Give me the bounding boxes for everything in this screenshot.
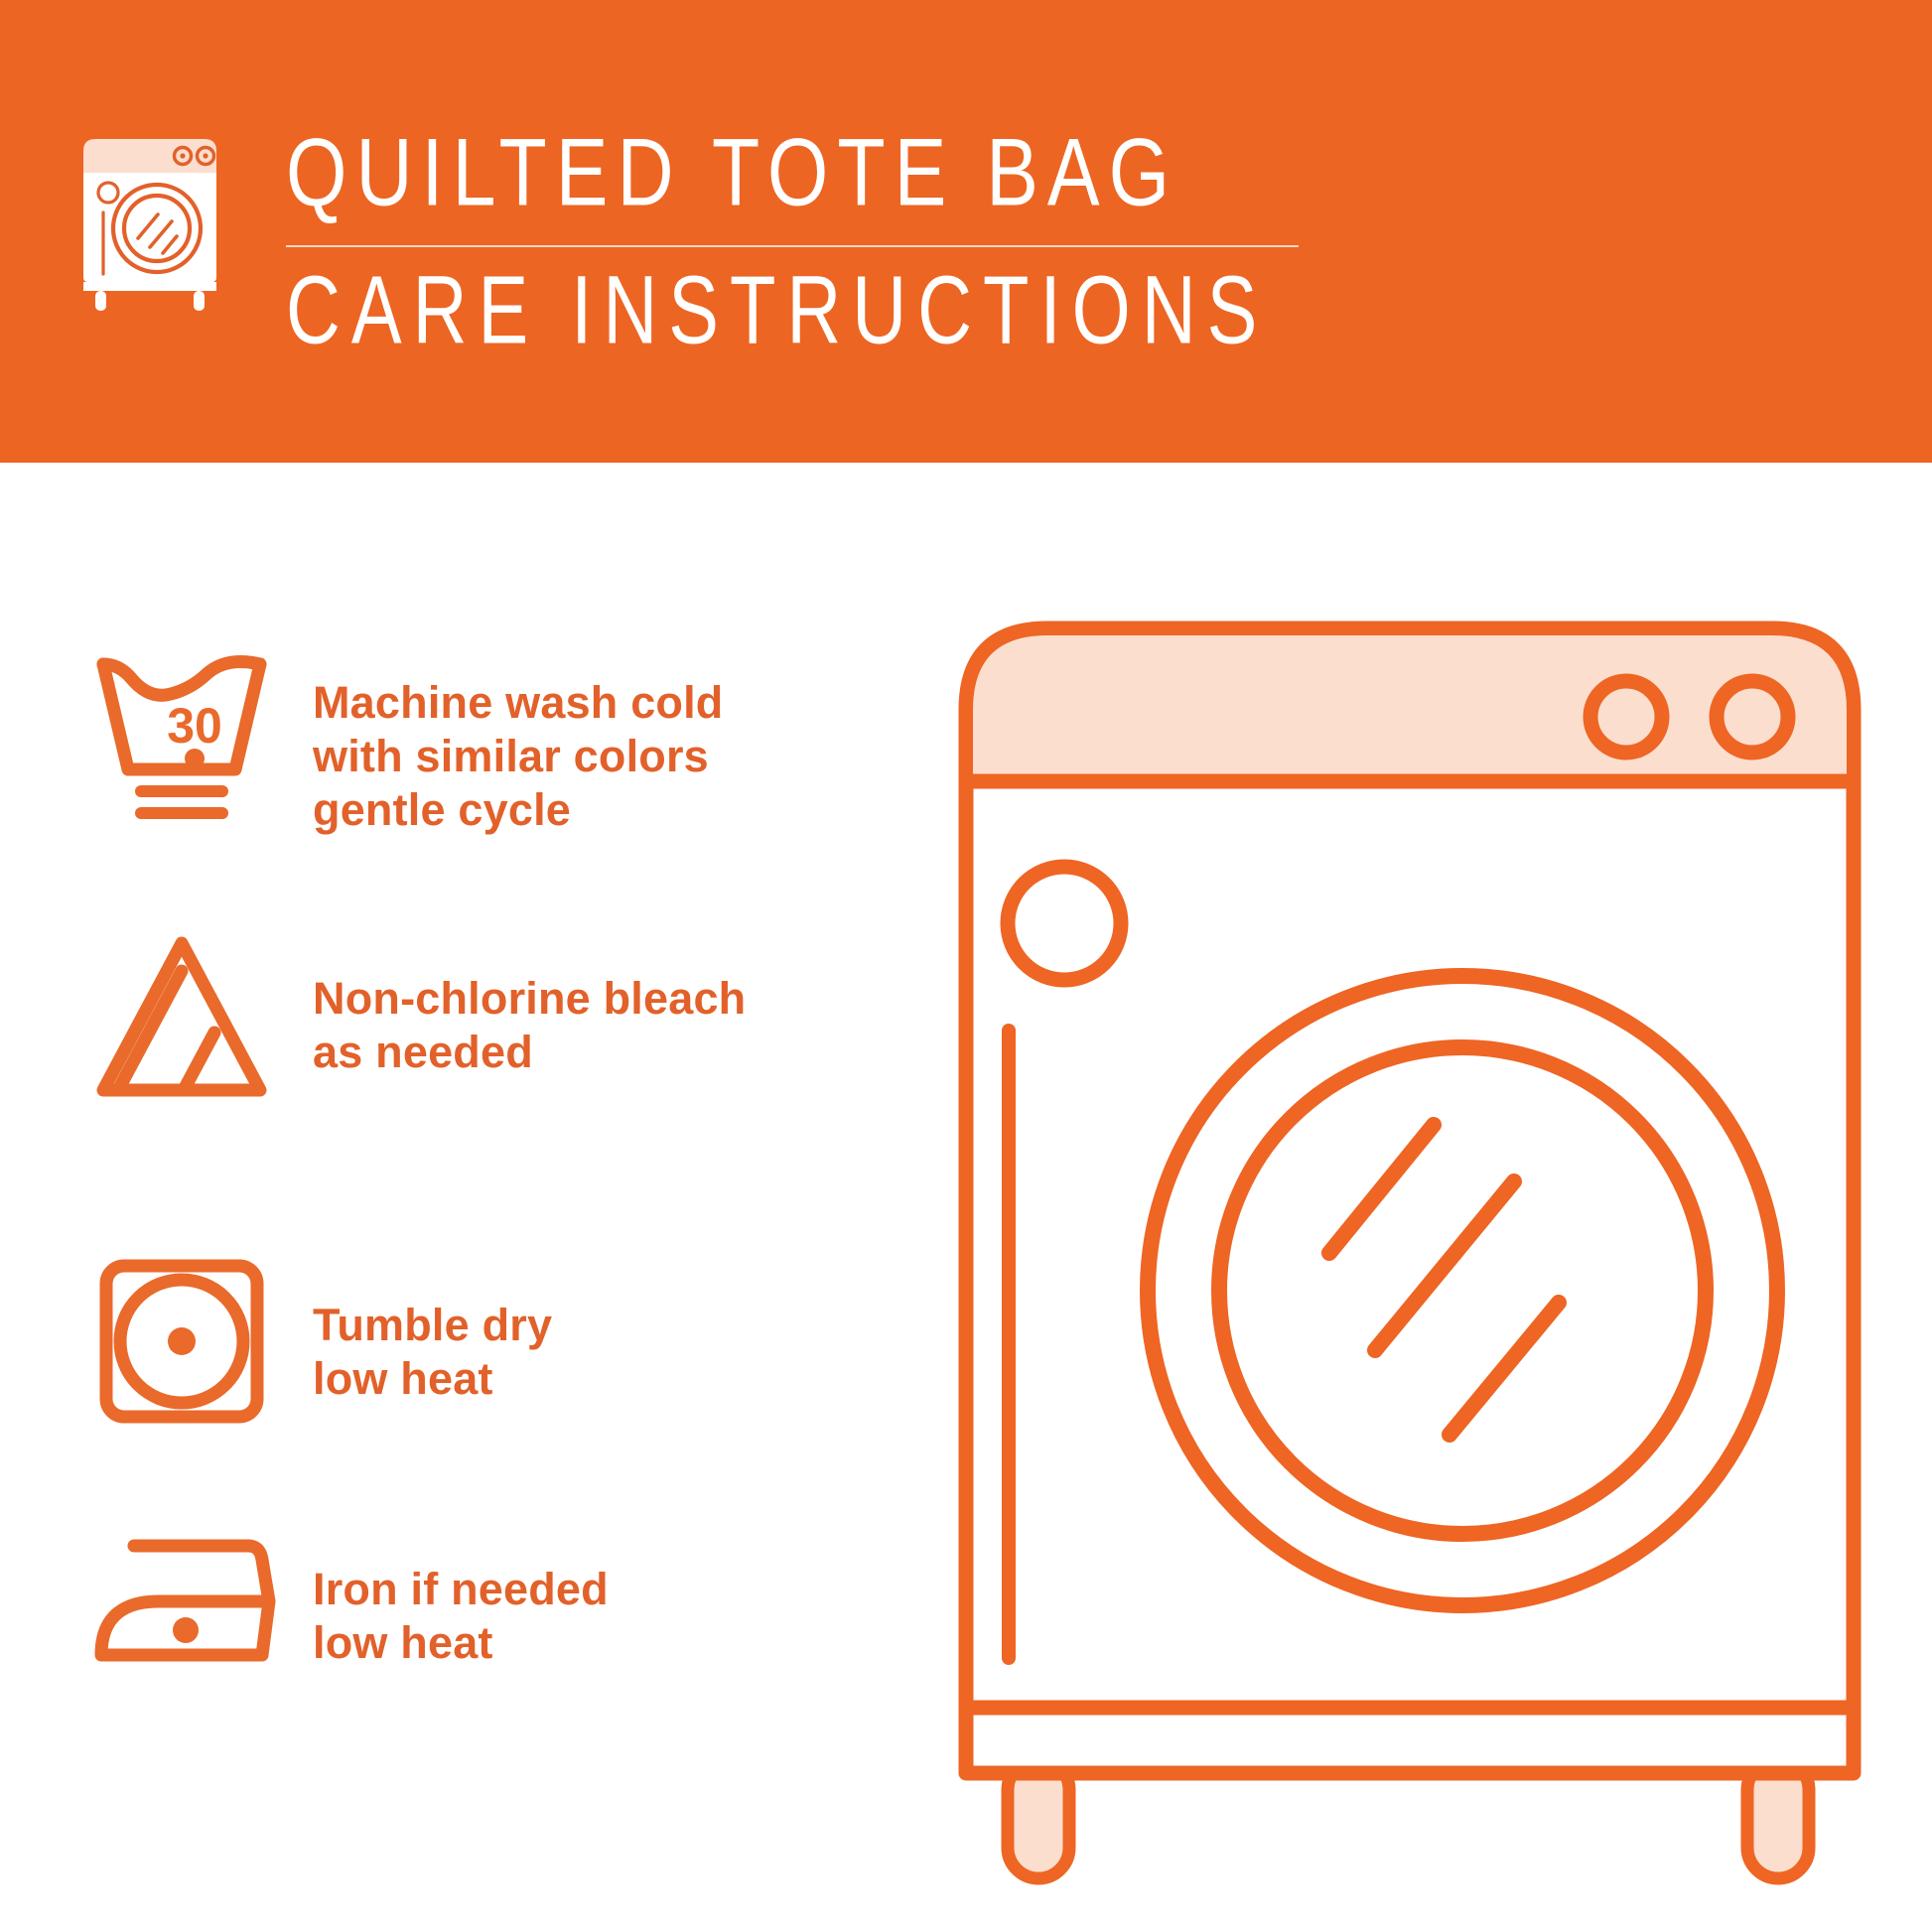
care-item-label-iron: Iron if needed low heat [313,1563,609,1670]
header-banner: QUILTED TOTE BAG CARE INSTRUCTIONS [0,0,1932,463]
page-title: QUILTED TOTE BAG [286,124,1309,219]
washing-machine-illustration [953,596,1866,1896]
care-item-label-machine-wash: Machine wash cold with similar colors ge… [313,676,724,837]
care-item-label-bleach: Non-chlorine bleach as needed [313,972,746,1079]
title-divider [286,245,1299,247]
care-instructions-list: 30 Machine wash cold with similar colors… [0,463,894,1932]
wash-tub-30-icon: 30 [87,646,276,835]
tumble-dry-low-icon [87,1247,276,1436]
non-chlorine-bleach-triangle-icon [87,929,276,1118]
machine-knob-right [1717,681,1788,753]
iron-low-heat-icon [87,1510,276,1699]
care-item-label-tumble-dry: Tumble dry low heat [313,1299,552,1406]
machine-knob-left [1590,681,1662,753]
care-instructions-page: QUILTED TOTE BAG CARE INSTRUCTIONS [0,0,1932,1932]
wash-temperature-label: 30 [167,698,222,754]
page-subtitle: CARE INSTRUCTIONS [286,263,1268,359]
washing-machine-icon [75,135,224,314]
title-block: QUILTED TOTE BAG CARE INSTRUCTIONS [286,124,1309,203]
